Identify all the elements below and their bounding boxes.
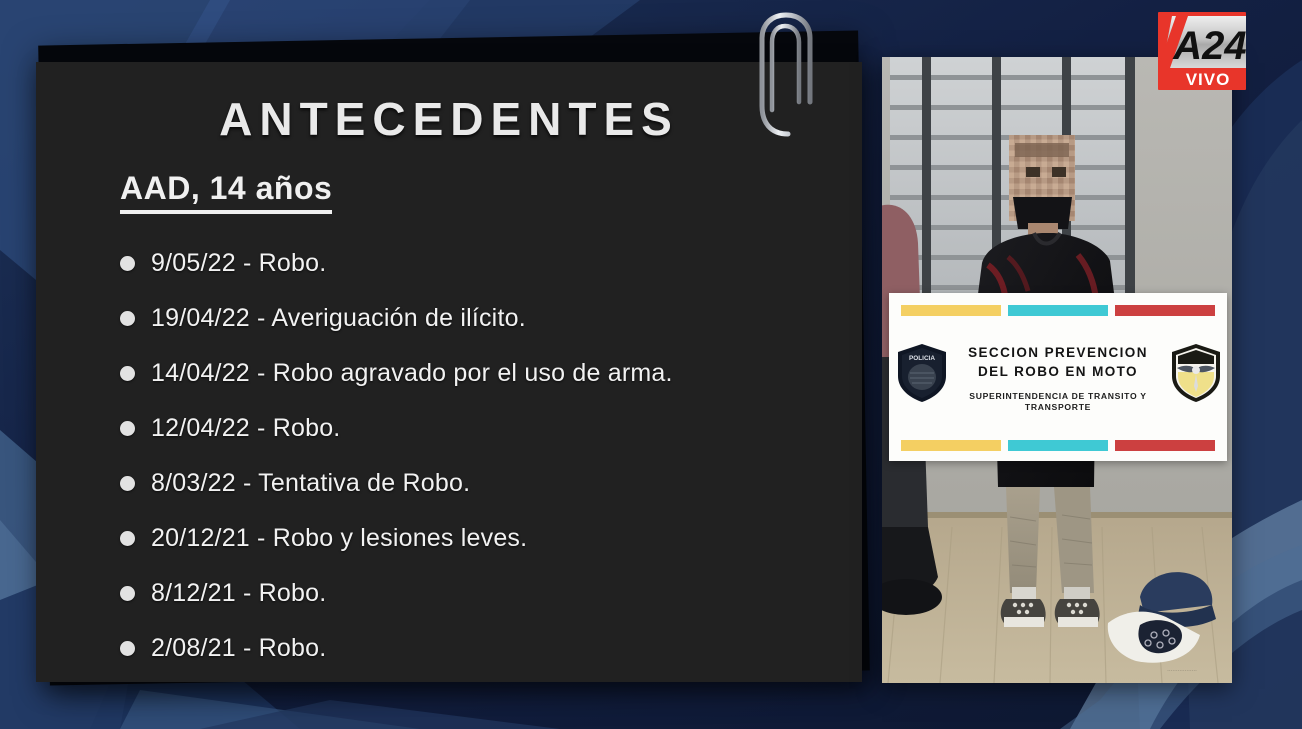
list-item: 20/12/21 - Robo y lesiones leves. [120, 511, 862, 566]
police-unit-banner: POLICIA SECCION PREVENCION DEL ROBO EN M… [889, 293, 1227, 461]
subject-subtitle: AAD, 14 años [120, 170, 332, 214]
bar-red [1115, 305, 1215, 316]
bullet-icon [120, 586, 135, 601]
banner-text-block: SECCION PREVENCION DEL ROBO EN MOTO SUPE… [947, 343, 1169, 413]
a24-logo-graphic: A24 VIVO [1158, 12, 1246, 90]
bullet-icon [120, 256, 135, 271]
bar-yellow [901, 305, 1001, 316]
record-text: 19/04/22 - Averiguación de ilícito. [151, 304, 526, 333]
vivo-label: VIVO [1186, 70, 1231, 89]
bar-yellow [901, 440, 1001, 451]
svg-text:.................: ................. [1167, 665, 1197, 673]
bullet-icon [120, 366, 135, 381]
list-item: 19/04/22 - Averiguación de ilícito. [120, 291, 862, 346]
banner-content: POLICIA SECCION PREVENCION DEL ROBO EN M… [889, 316, 1227, 440]
policia-shield-icon: POLICIA [895, 342, 949, 404]
a24-wordmark: A24 [1172, 24, 1246, 68]
record-text: 8/03/22 - Tentativa de Robo. [151, 469, 470, 498]
record-text: 2/08/21 - Robo. [151, 634, 326, 663]
list-item: 12/04/22 - Robo. [120, 401, 862, 456]
record-list: 9/05/22 - Robo. 19/04/22 - Averiguación … [120, 236, 862, 676]
list-item: 8/03/22 - Tentativa de Robo. [120, 456, 862, 511]
record-text: 9/05/22 - Robo. [151, 249, 326, 278]
list-item: 2/08/21 - Robo. [120, 621, 862, 676]
bar-red [1115, 440, 1215, 451]
banner-subline-2: TRANSPORTE [947, 402, 1169, 413]
paperclip-icon [748, 6, 828, 146]
banner-top-bars [889, 305, 1227, 316]
record-text: 8/12/21 - Robo. [151, 579, 326, 608]
list-item: 14/04/22 - Robo agravado por el uso de a… [120, 346, 862, 401]
bullet-icon [120, 531, 135, 546]
bullet-icon [120, 476, 135, 491]
policia-badge-text: POLICIA [909, 355, 935, 362]
bar-cyan [1008, 305, 1108, 316]
banner-line-1: SECCION PREVENCION [947, 343, 1169, 363]
record-text: 20/12/21 - Robo y lesiones leves. [151, 524, 527, 553]
page-title: ANTECEDENTES [36, 92, 862, 146]
bullet-icon [120, 641, 135, 656]
list-item: 9/05/22 - Robo. [120, 236, 862, 291]
list-item: 8/12/21 - Robo. [120, 566, 862, 621]
banner-subline-1: SUPERINTENDENCIA DE TRANSITO Y [947, 391, 1169, 402]
channel-logo: A24 VIVO [1158, 12, 1246, 90]
antecedentes-card: ANTECEDENTES AAD, 14 años 9/05/22 - Robo… [36, 62, 862, 682]
bullet-icon [120, 421, 135, 436]
banner-line-2: DEL ROBO EN MOTO [947, 362, 1169, 382]
transito-shield-icon [1169, 342, 1223, 404]
banner-bottom-bars [889, 440, 1227, 451]
record-text: 14/04/22 - Robo agravado por el uso de a… [151, 359, 673, 388]
record-text: 12/04/22 - Robo. [151, 414, 340, 443]
bullet-icon [120, 311, 135, 326]
bar-cyan [1008, 440, 1108, 451]
detainee-photo-panel: Fly Emirates [882, 57, 1232, 683]
